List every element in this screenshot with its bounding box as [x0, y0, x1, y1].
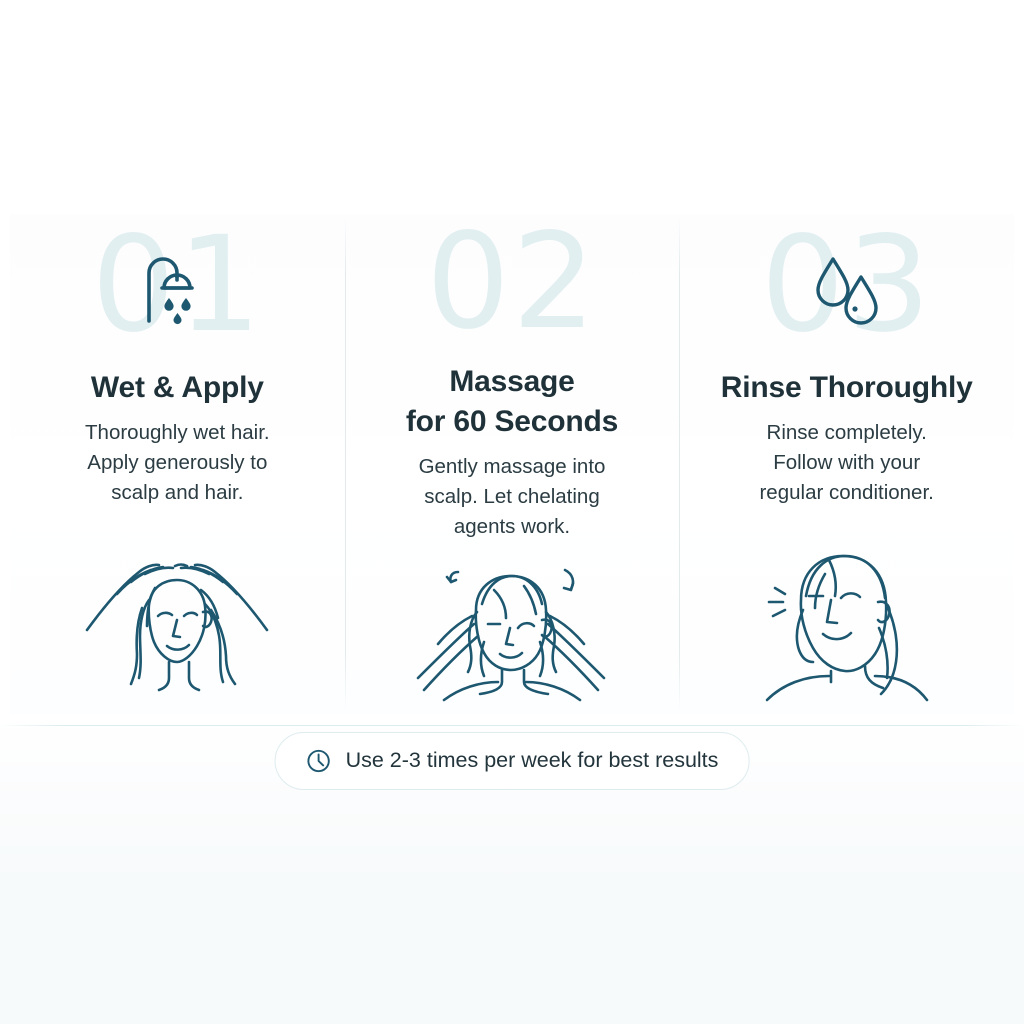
step-2-number-block: 02 — [345, 214, 680, 358]
steps-container: 01 Wet & Apply Thoroughly wet hair. Appl… — [10, 214, 1014, 714]
step-2-title: Massage for 60 Seconds — [406, 362, 618, 442]
shower-head-icon — [131, 243, 223, 335]
step-card-1: 01 Wet & Apply Thoroughly wet hair. Appl… — [10, 214, 345, 714]
woman-massaging-scalp-illustration — [412, 542, 612, 700]
step-2-number: 02 — [426, 216, 598, 348]
woman-applying-to-scalp-illustration — [77, 535, 277, 700]
step-3-title: Rinse Thoroughly — [721, 368, 973, 408]
usage-frequency-text: Use 2-3 times per week for best results — [346, 750, 719, 772]
step-2-description: Gently massage into scalp. Let chelating… — [419, 452, 606, 542]
woman-rinsed-hair-illustration — [747, 535, 947, 700]
clock-icon — [306, 748, 332, 774]
infographic-root: 01 Wet & Apply Thoroughly wet hair. Appl… — [0, 0, 1024, 1024]
step-1-title: Wet & Apply — [91, 368, 264, 408]
usage-frequency-badge: Use 2-3 times per week for best results — [275, 732, 750, 790]
step-1-number-block: 01 — [10, 214, 345, 364]
step-1-description: Thoroughly wet hair. Apply generously to… — [85, 418, 270, 508]
water-droplets-icon — [801, 243, 893, 335]
step-card-2: 02 Massage for 60 Seconds Gently massage… — [345, 214, 680, 714]
step-3-description: Rinse completely. Follow with your regul… — [759, 418, 933, 508]
step-3-number-block: 03 — [679, 214, 1014, 364]
step-card-3: 03 Rinse Thoroughly Rinse completely. Fo… — [679, 214, 1014, 714]
section-divider — [0, 725, 1024, 726]
